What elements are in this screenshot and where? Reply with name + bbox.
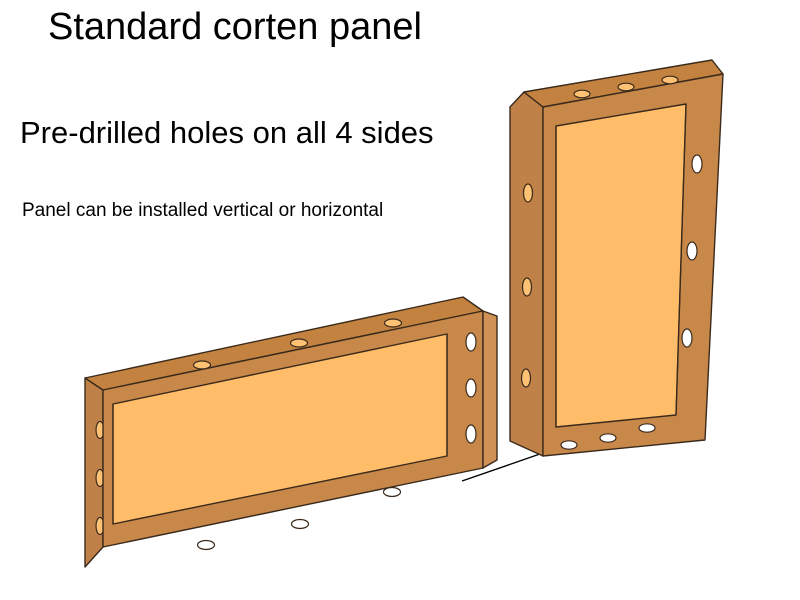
hole-top-3 — [385, 319, 402, 327]
horizontal-panel — [85, 297, 497, 567]
hole-top-2 — [291, 339, 308, 347]
hole-top-1 — [194, 361, 211, 369]
hole-right-1 — [466, 333, 476, 351]
subtitle-text: Pre-drilled holes on all 4 sides — [20, 115, 434, 151]
hole-v-right-2 — [687, 242, 697, 260]
page-title: Standard corten panel — [48, 6, 422, 49]
hole-v-top-3 — [662, 76, 678, 84]
hole-bottom-2 — [292, 520, 309, 529]
hole-v-top-2 — [618, 83, 634, 91]
hole-v-bottom-1 — [561, 441, 577, 449]
hole-v-left-end-3 — [522, 369, 531, 387]
horizontal-panel-right-rail-holes — [466, 333, 476, 443]
vertical-panel-left-end-face — [510, 92, 543, 456]
hole-v-right-3 — [682, 329, 692, 347]
hole-v-bottom-2 — [600, 434, 616, 442]
horizontal-panel-left-end-face — [85, 378, 104, 567]
vertical-panel-interior — [556, 104, 686, 427]
slide-canvas: Standard corten panel Pre-drilled holes … — [0, 0, 800, 600]
hole-v-bottom-3 — [639, 424, 655, 432]
vertical-panel — [510, 60, 723, 456]
corten-panel-diagram — [0, 0, 800, 600]
hole-v-right-1 — [692, 155, 702, 173]
hole-right-3 — [466, 425, 476, 443]
hole-right-2 — [466, 379, 476, 397]
horizontal-panel-right-end-face — [483, 311, 497, 468]
note-text: Panel can be installed vertical or horiz… — [22, 200, 383, 222]
hole-v-top-1 — [574, 90, 590, 98]
vertical-panel-front-face — [543, 74, 723, 456]
hole-v-left-end-2 — [523, 278, 532, 296]
hole-v-left-end-1 — [524, 184, 533, 202]
